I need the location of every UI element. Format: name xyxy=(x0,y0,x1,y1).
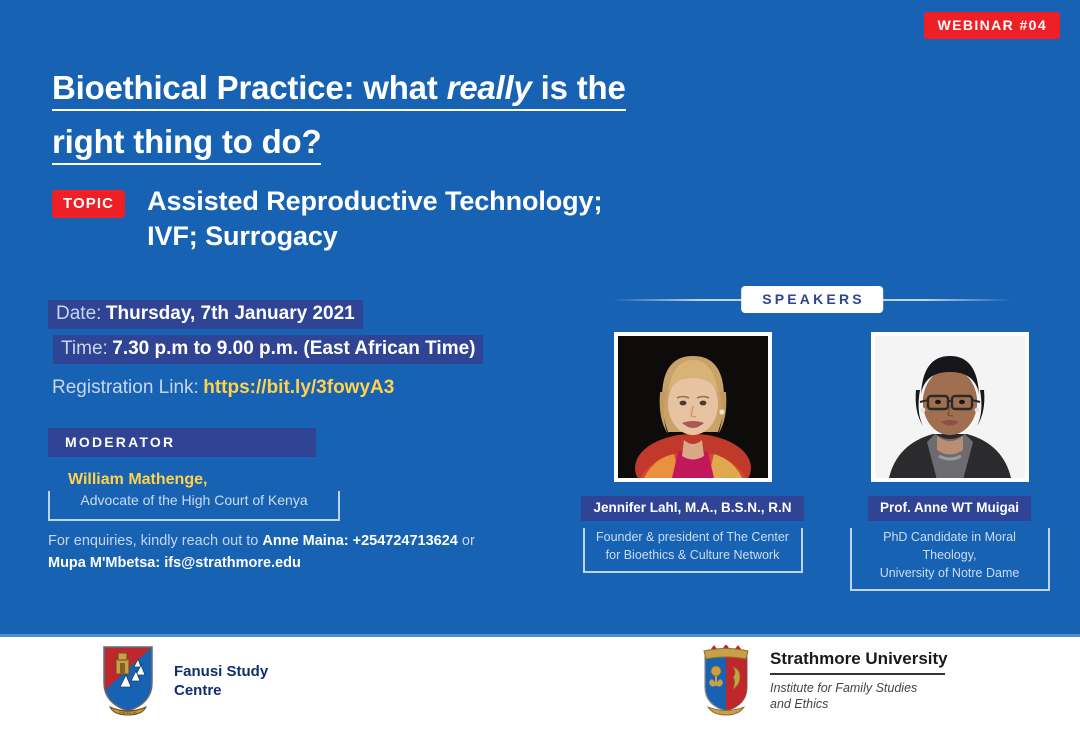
strathmore-subtitle: Institute for Family Studies and Ethics xyxy=(770,680,948,714)
fanusi-logo-block: FANUSI Fanusi Study Centre xyxy=(100,645,268,717)
speaker-name: Jennifer Lahl, M.A., B.S.N., R.N xyxy=(581,496,803,521)
moderator-section: MODERATOR William Mathenge, Advocate of … xyxy=(48,428,568,521)
page-title: Bioethical Practice: what really is the … xyxy=(52,66,822,174)
speaker-photo-frame xyxy=(871,332,1029,482)
webinar-poster: WEBINAR #04 Bioethical Practice: what re… xyxy=(0,0,1080,732)
date-row: Date: Thursday, 7th January 2021 xyxy=(48,300,568,329)
webinar-number-badge: WEBINAR #04 xyxy=(924,12,1060,39)
moderator-name: William Mathenge, xyxy=(68,471,568,489)
strathmore-logo-text: Strathmore University Institute for Fami… xyxy=(770,649,948,714)
speaker-name: Prof. Anne WT Muigai xyxy=(868,496,1031,521)
time-value: 7.30 p.m to 9.00 p.m. (East African Time… xyxy=(112,338,475,359)
enquiries-joiner: or xyxy=(458,533,475,549)
speaker-role-frame: PhD Candidate in Moral Theology, Univers… xyxy=(850,528,1050,591)
enquiries-contact-2: Mupa M'Mbetsa: ifs@strathmore.edu xyxy=(48,555,301,571)
time-label: Time: xyxy=(61,338,108,359)
moderator-role: Advocate of the High Court of Kenya xyxy=(80,492,307,508)
fanusi-name: Fanusi Study Centre xyxy=(174,662,268,701)
enquiries-contact-1: Anne Maina: +254724713624 xyxy=(262,533,457,549)
strathmore-name: Strathmore University xyxy=(770,649,948,669)
svg-text:FANUSI: FANUSI xyxy=(119,711,137,716)
speakers-header: SPEAKERS xyxy=(612,286,1012,314)
moderator-heading: MODERATOR xyxy=(48,428,316,457)
registration-row: Registration Link: https://bit.ly/3fowyA… xyxy=(48,377,568,399)
enquiries-lead: For enquiries, kindly reach out to xyxy=(48,533,262,549)
fanusi-logo-text: Fanusi Study Centre xyxy=(174,662,268,701)
title-line2: right thing to do? xyxy=(52,123,321,165)
topic-text: Assisted Reproductive Technology; IVF; S… xyxy=(147,184,602,253)
date-label: Date: xyxy=(56,303,101,324)
title-line1-part2: is the xyxy=(532,69,626,106)
fanusi-crest-icon: FANUSI xyxy=(100,645,156,717)
strathmore-crest-icon xyxy=(700,645,752,717)
poster-footer: FANUSI Fanusi Study Centre xyxy=(0,637,1080,732)
speaker-card: Jennifer Lahl, M.A., B.S.N., R.N Founder… xyxy=(575,332,810,591)
event-details: Date: Thursday, 7th January 2021 Time: 7… xyxy=(48,300,568,399)
time-row: Time: 7.30 p.m to 9.00 p.m. (East Africa… xyxy=(53,335,568,364)
strathmore-logo-block: Strathmore University Institute for Fami… xyxy=(700,645,948,717)
speaker-role-frame: Founder & president of The Center for Bi… xyxy=(583,528,803,573)
enquiries-text: For enquiries, kindly reach out to Anne … xyxy=(48,530,568,575)
speaker-role: Founder & president of The Center for Bi… xyxy=(596,530,789,562)
registration-link[interactable]: https://bit.ly/3fowyA3 xyxy=(203,377,394,398)
speakers-heading: SPEAKERS xyxy=(741,286,883,313)
date-value: Thursday, 7th January 2021 xyxy=(106,303,355,324)
title-line1-part1: Bioethical Practice: what xyxy=(52,69,447,106)
strathmore-divider xyxy=(770,673,945,675)
portrait-anne-muigai xyxy=(875,336,1025,478)
topic-section: TOPIC Assisted Reproductive Technology; … xyxy=(52,184,602,253)
title-emphasis: really xyxy=(447,69,532,106)
registration-label: Registration Link: xyxy=(52,377,199,398)
speaker-card: Prof. Anne WT Muigai PhD Candidate in Mo… xyxy=(832,332,1067,591)
portrait-jennifer-lahl xyxy=(618,336,768,478)
speaker-role: PhD Candidate in Moral Theology, Univers… xyxy=(880,530,1020,580)
speakers-grid: Jennifer Lahl, M.A., B.S.N., R.N Founder… xyxy=(575,332,1075,591)
moderator-role-frame: Advocate of the High Court of Kenya xyxy=(48,491,340,521)
speaker-photo-frame xyxy=(614,332,772,482)
topic-tag: TOPIC xyxy=(52,190,125,218)
